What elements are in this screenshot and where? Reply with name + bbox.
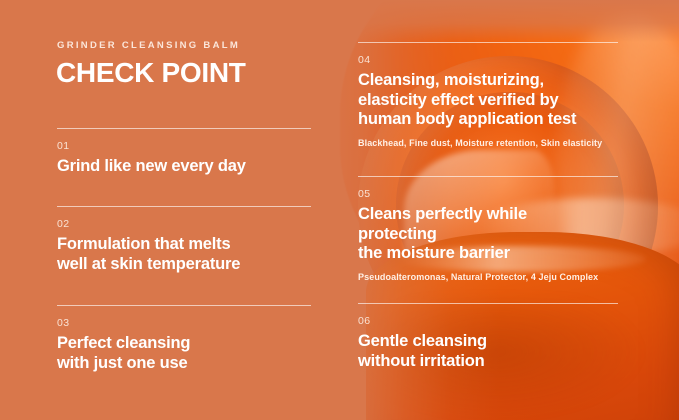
poster-content: GRINDER CLEANSING BALM CHECK POINT 01 Gr… <box>0 0 679 420</box>
checkpoint-item-01: 01 Grind like new every day <box>57 128 311 177</box>
item-number: 01 <box>57 140 311 152</box>
checkpoint-item-03: 03 Perfect cleansing with just one use <box>57 305 311 373</box>
checkpoint-item-04: 04 Cleansing, moisturizing, elasticity e… <box>358 42 618 148</box>
item-subtitle: Pseudoalteromonas, Natural Protector, 4 … <box>358 272 618 282</box>
item-subtitle: Blackhead, Fine dust, Moisture retention… <box>358 138 618 148</box>
item-divider <box>57 206 311 207</box>
item-heading: Perfect cleansing with just one use <box>57 334 311 373</box>
item-divider <box>57 305 311 306</box>
checkpoint-item-05: 05 Cleans perfectly while protecting the… <box>358 176 618 282</box>
page-title: CHECK POINT <box>56 57 246 89</box>
item-heading: Formulation that melts well at skin temp… <box>57 235 311 274</box>
item-heading: Cleansing, moisturizing, elasticity effe… <box>358 71 618 130</box>
item-number: 04 <box>358 54 618 66</box>
item-divider <box>358 303 618 304</box>
item-heading: Gentle cleansing without irritation <box>358 332 618 371</box>
item-heading: Cleans perfectly while protecting the mo… <box>358 205 618 264</box>
item-number: 03 <box>57 317 311 329</box>
checkpoint-item-06: 06 Gentle cleansing without irritation <box>358 303 618 371</box>
item-number: 05 <box>358 188 618 200</box>
item-divider <box>358 176 618 177</box>
promo-poster: GRINDER CLEANSING BALM CHECK POINT 01 Gr… <box>0 0 679 420</box>
item-divider <box>358 42 618 43</box>
item-number: 02 <box>57 218 311 230</box>
item-number: 06 <box>358 315 618 327</box>
checkpoint-item-02: 02 Formulation that melts well at skin t… <box>57 206 311 274</box>
item-heading: Grind like new every day <box>57 157 311 177</box>
item-divider <box>57 128 311 129</box>
brand-eyebrow: GRINDER CLEANSING BALM <box>57 40 240 51</box>
